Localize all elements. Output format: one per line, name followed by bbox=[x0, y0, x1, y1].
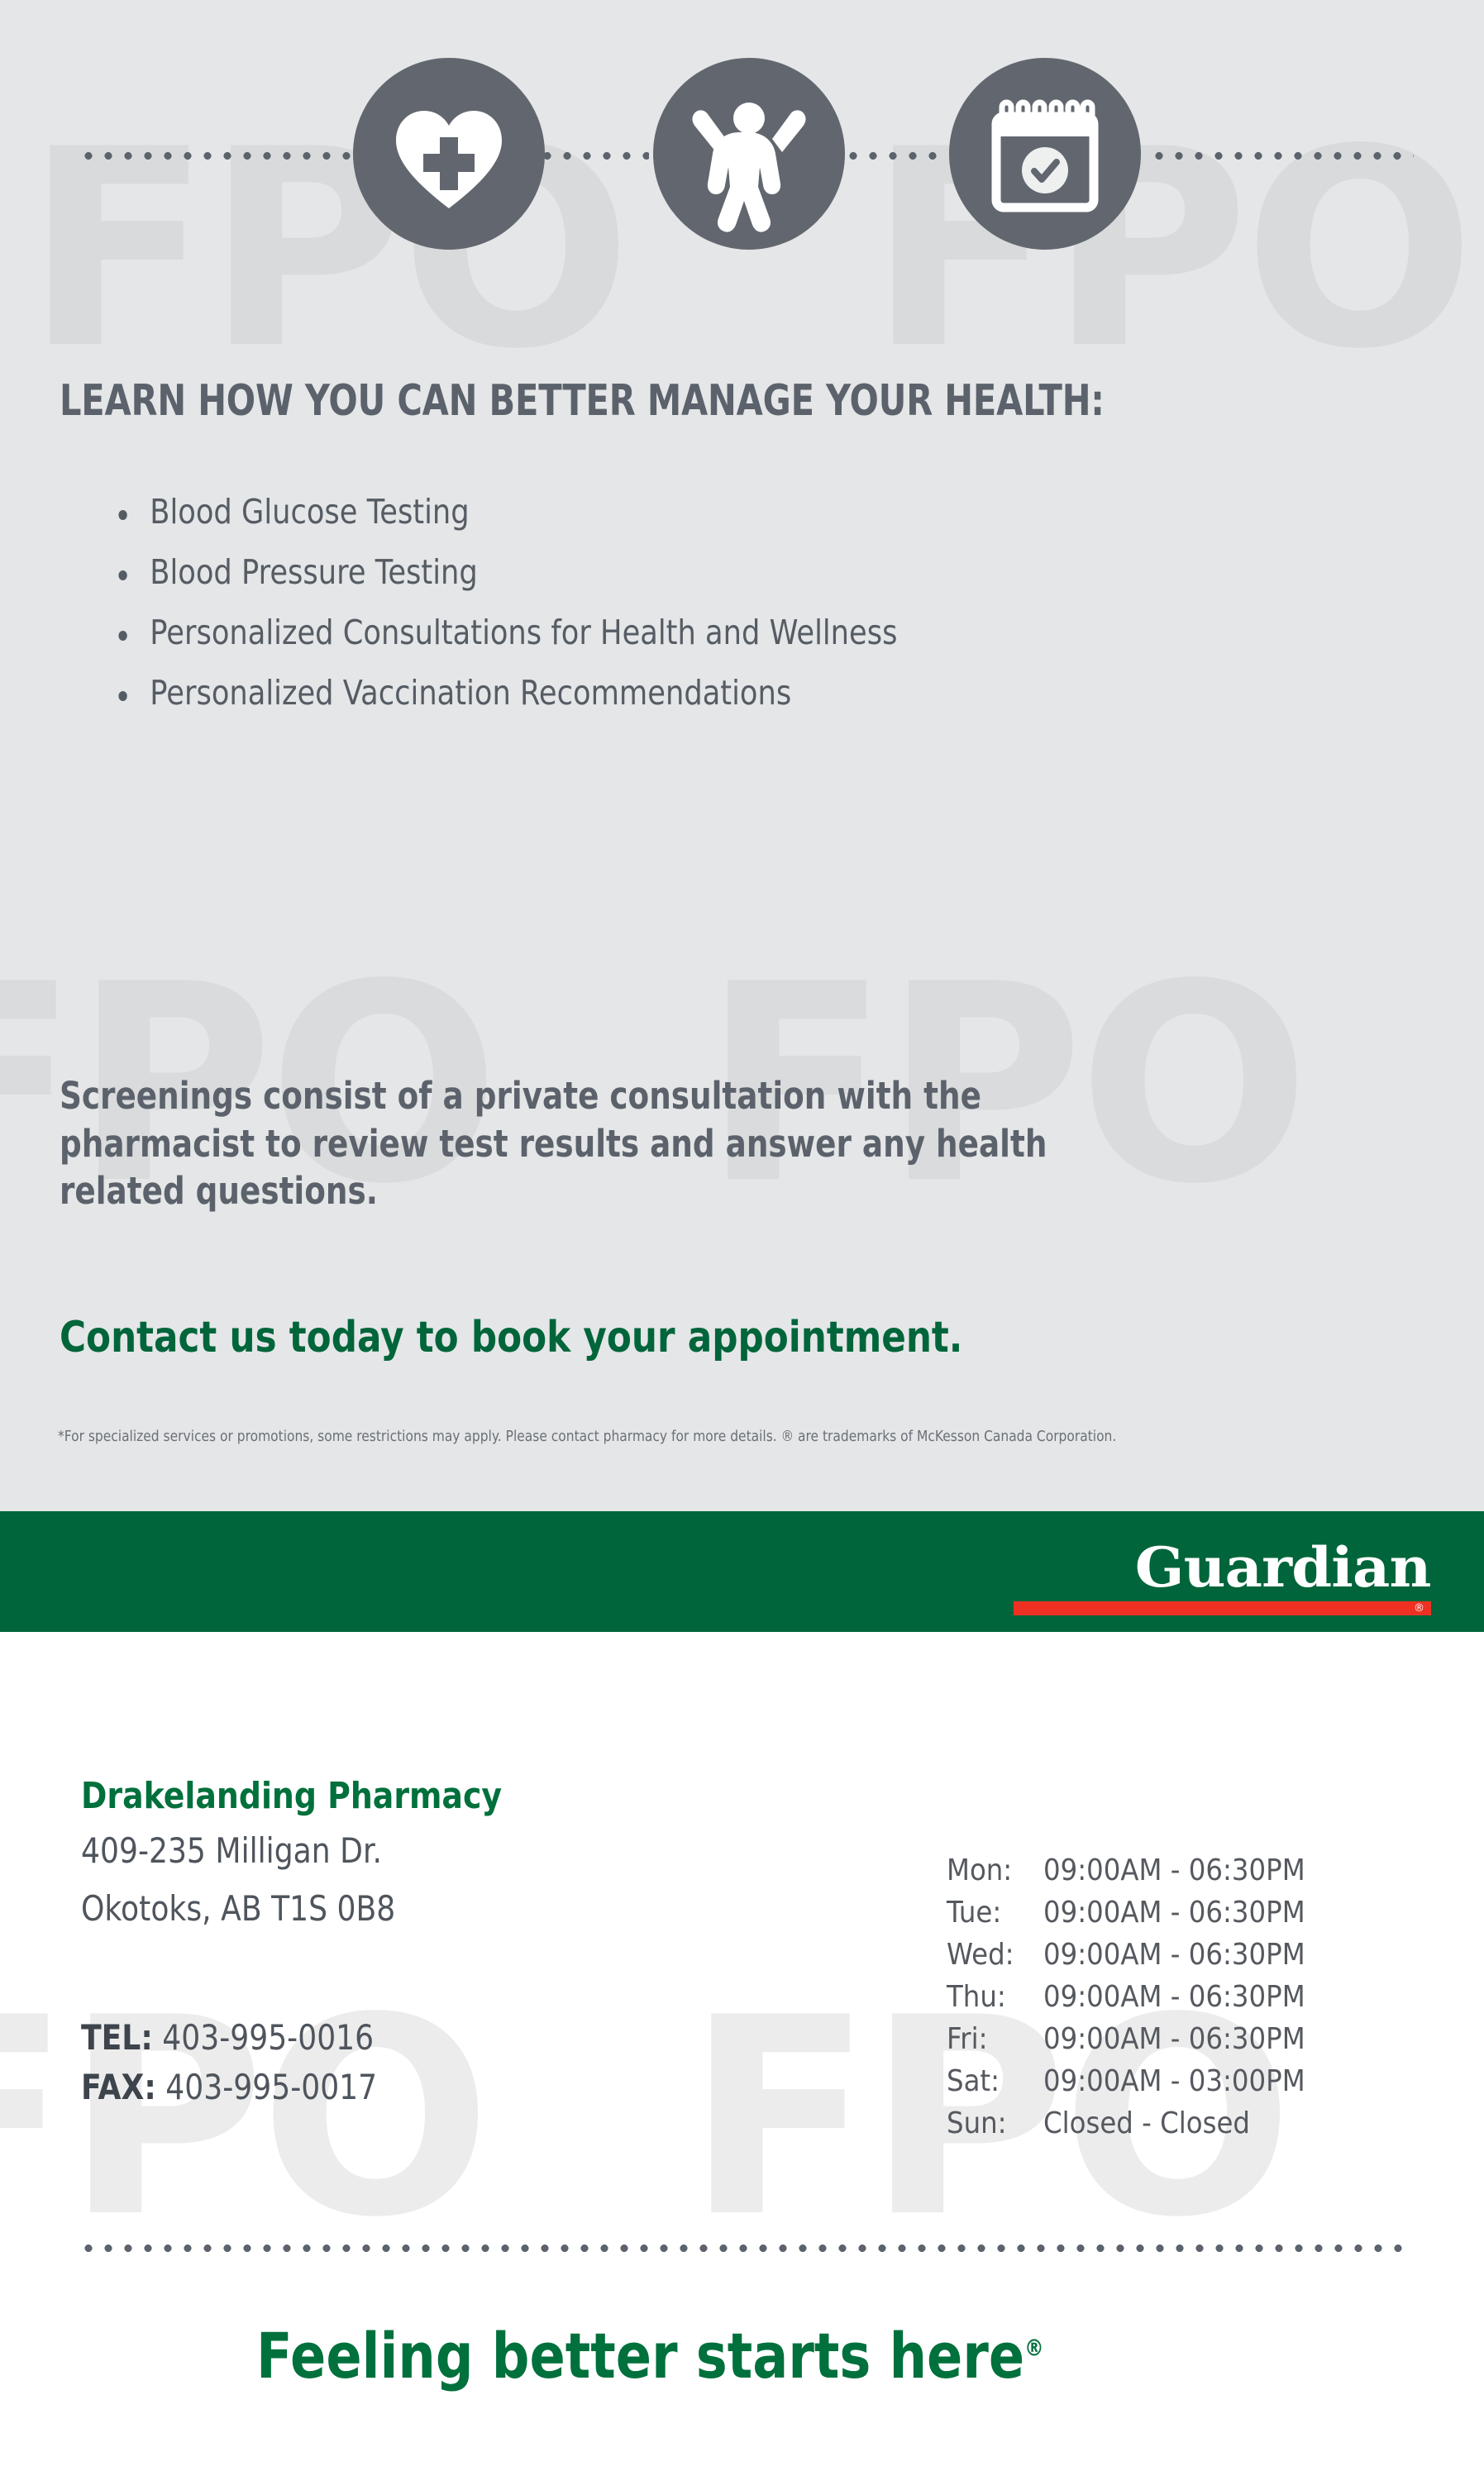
hours-time: Closed - Closed bbox=[1043, 2106, 1305, 2149]
icon-banner bbox=[0, 88, 1484, 220]
brand-tagline: Feeling better starts here® bbox=[256, 2319, 1044, 2393]
dotted-rule bbox=[79, 152, 360, 160]
dotted-rule bbox=[537, 152, 649, 160]
dotted-rule bbox=[843, 152, 942, 160]
registered-trademark-icon: ® bbox=[1024, 2335, 1044, 2362]
hours-time: 09:00AM - 06:30PM bbox=[1043, 1938, 1305, 1980]
legal-disclaimer: *For specialized services or promotions,… bbox=[58, 1428, 1116, 1445]
table-row: Fri: 09:00AM - 06:30PM bbox=[947, 2022, 1305, 2064]
guardian-red-rule bbox=[1014, 1601, 1431, 1615]
guardian-wordmark: Guardian bbox=[1135, 1535, 1431, 1600]
table-row: Sun: Closed - Closed bbox=[947, 2106, 1305, 2149]
pharmacy-flyer: FPO FPO FPO FPO FPO FPO bbox=[0, 0, 1484, 2476]
call-to-action-text: Contact us today to book your appointmen… bbox=[60, 1313, 962, 1362]
tagline-text: Feeling better starts here bbox=[256, 2319, 1024, 2393]
list-item: Blood Glucose Testing bbox=[116, 492, 897, 532]
hours-day: Fri: bbox=[947, 2022, 1043, 2064]
heart-plus-icon bbox=[353, 58, 545, 250]
hours-time: 09:00AM - 06:30PM bbox=[1043, 1896, 1305, 1938]
guardian-logo: Guardian ® bbox=[748, 1539, 1431, 1613]
table-row: Mon: 09:00AM - 06:30PM bbox=[947, 1853, 1305, 1896]
dotted-divider bbox=[79, 2245, 1410, 2252]
hours-time: 09:00AM - 06:30PM bbox=[1043, 2022, 1305, 2064]
hours-day: Tue: bbox=[947, 1896, 1043, 1938]
telephone-label: TEL: bbox=[81, 2017, 153, 2058]
hours-day: Sat: bbox=[947, 2064, 1043, 2106]
store-hours-table: Mon: 09:00AM - 06:30PM Tue: 09:00AM - 06… bbox=[947, 1853, 1305, 2149]
calendar-check-icon bbox=[949, 58, 1141, 250]
list-item: Personalized Vaccination Recommendations bbox=[116, 673, 897, 713]
hours-day: Sun: bbox=[947, 2106, 1043, 2149]
dotted-rule bbox=[1149, 152, 1414, 160]
hours-time: 09:00AM - 03:00PM bbox=[1043, 2064, 1305, 2106]
pharmacy-telephone: TEL: 403-995-0016 bbox=[81, 2017, 374, 2058]
pharmacy-address-line-1: 409-235 Milligan Dr. bbox=[81, 1830, 382, 1871]
hours-day: Mon: bbox=[947, 1853, 1043, 1896]
table-row: Thu: 09:00AM - 06:30PM bbox=[947, 1980, 1305, 2022]
pharmacy-name: Drakelanding Pharmacy bbox=[81, 1775, 502, 1817]
pharmacy-address-line-2: Okotoks, AB T1S 0B8 bbox=[81, 1888, 395, 1929]
screenings-description: Screenings consist of a private consulta… bbox=[60, 1072, 1432, 1215]
paragraph-line: pharmacist to review test results and an… bbox=[60, 1120, 1199, 1168]
pharmacy-fax: FAX: 403-995-0017 bbox=[81, 2067, 377, 2107]
list-item: Personalized Consultations for Health an… bbox=[116, 613, 897, 652]
hours-day: Wed: bbox=[947, 1938, 1043, 1980]
telephone-number: 403-995-0016 bbox=[162, 2017, 374, 2058]
fax-number: 403-995-0017 bbox=[165, 2067, 377, 2107]
hours-time: 09:00AM - 06:30PM bbox=[1043, 1980, 1305, 2022]
paragraph-line: Screenings consist of a private consulta… bbox=[60, 1072, 1199, 1120]
page-title: LEARN HOW YOU CAN BETTER MANAGE YOUR HEA… bbox=[60, 376, 1105, 426]
fax-label: FAX: bbox=[81, 2067, 156, 2107]
table-row: Wed: 09:00AM - 06:30PM bbox=[947, 1938, 1305, 1980]
paragraph-line: related questions. bbox=[60, 1167, 1199, 1215]
registered-trademark-icon: ® bbox=[1414, 1602, 1424, 1615]
list-item: Blood Pressure Testing bbox=[116, 552, 897, 592]
person-arms-raised-icon bbox=[653, 58, 845, 250]
services-list: Blood Glucose Testing Blood Pressure Tes… bbox=[116, 492, 1024, 733]
table-row: Sat: 09:00AM - 03:00PM bbox=[947, 2064, 1305, 2106]
hours-time: 09:00AM - 06:30PM bbox=[1043, 1853, 1305, 1896]
hours-day: Thu: bbox=[947, 1980, 1043, 2022]
table-row: Tue: 09:00AM - 06:30PM bbox=[947, 1896, 1305, 1938]
